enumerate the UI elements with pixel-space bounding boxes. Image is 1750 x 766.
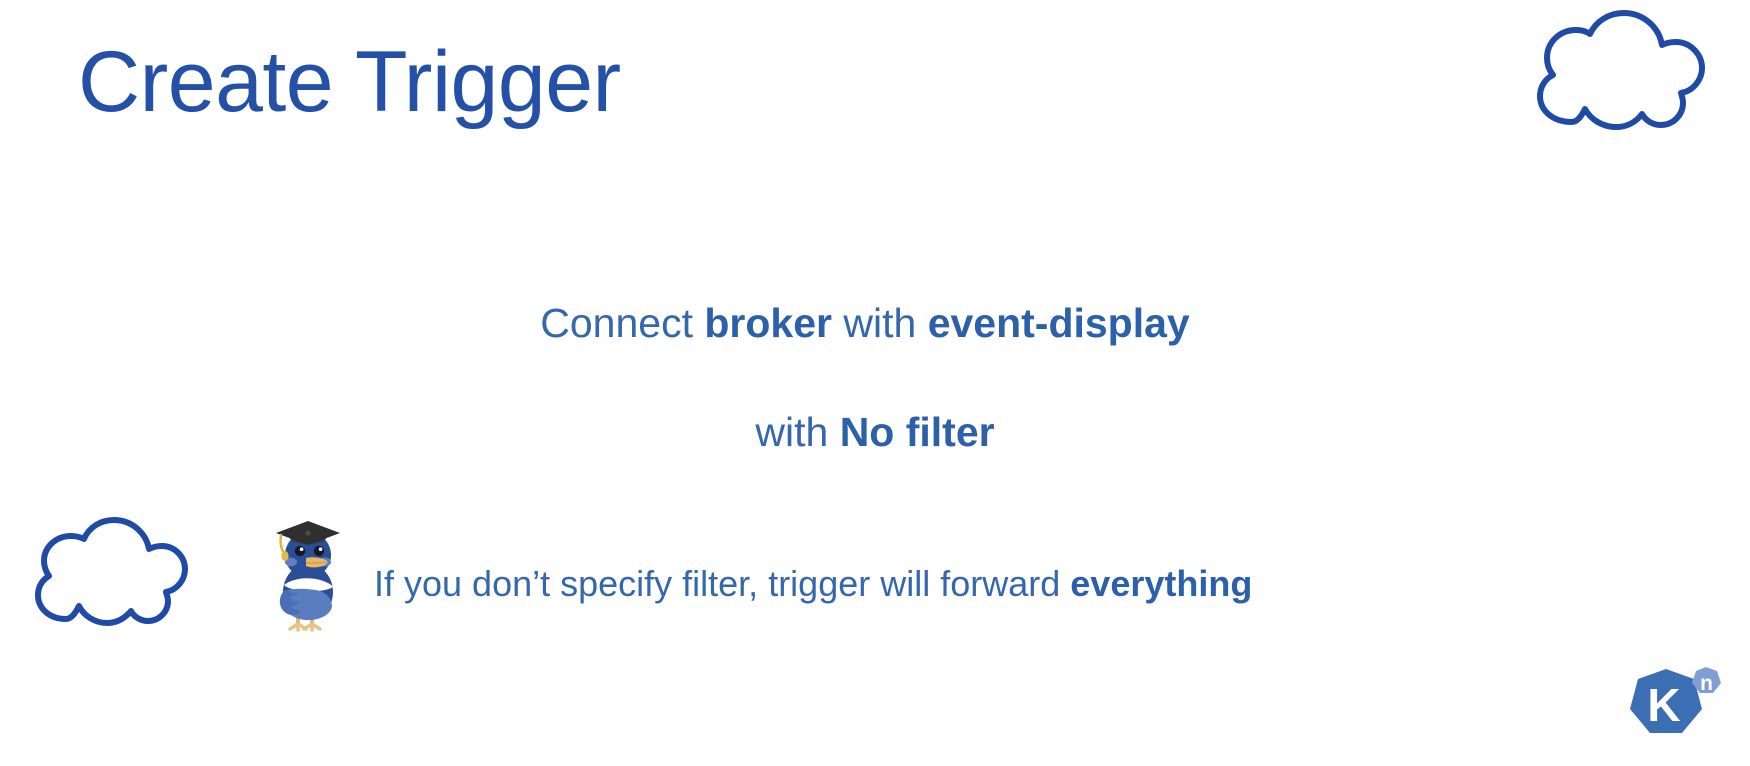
body-line-filter: with No filter: [0, 409, 1750, 456]
cloud-outline-icon: [1516, 8, 1706, 130]
knative-logo: K n: [1622, 659, 1726, 755]
note-text-plain: If you don’t specify filter, trigger wil…: [374, 563, 1070, 604]
connect-text-part2: with: [832, 300, 928, 346]
connect-text-part1: Connect: [540, 300, 704, 346]
everything-keyword: everything: [1070, 563, 1252, 604]
knative-logo-n: n: [1700, 672, 1713, 695]
note-text: If you don’t specify filter, trigger wil…: [374, 563, 1252, 605]
broker-keyword: broker: [704, 300, 832, 346]
body-line-connect: Connect broker with event-display: [0, 300, 1750, 347]
note-row: If you don’t specify filter, trigger wil…: [268, 512, 1252, 632]
slide-canvas: Create Trigger Connect broker with event…: [0, 0, 1750, 766]
event-display-keyword: event-display: [928, 300, 1190, 346]
page-title: Create Trigger: [78, 34, 621, 130]
filter-text-part1: with: [755, 409, 839, 455]
knative-logo-k: K: [1647, 679, 1680, 731]
cloud-outline-icon: [18, 516, 190, 626]
graduate-bird-icon: [268, 512, 346, 632]
no-filter-keyword: No filter: [840, 409, 995, 455]
